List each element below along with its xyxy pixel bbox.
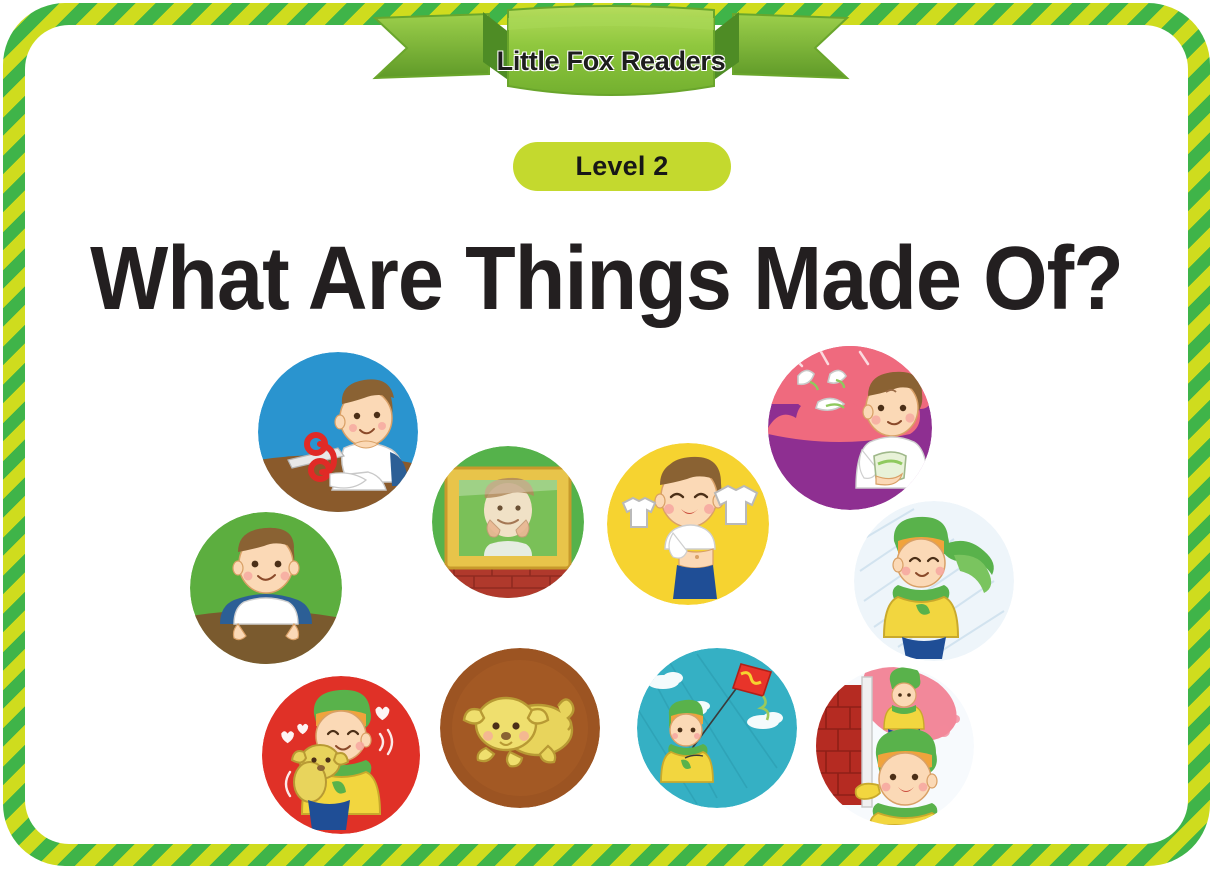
- book-cover-page: Little Fox Readers Level 2 What Are Thin…: [0, 0, 1213, 869]
- illustration-child-flying-kite: [637, 648, 797, 808]
- illustration-boy-at-table: [190, 512, 342, 664]
- illustration-boy-broken-cup: [768, 346, 932, 510]
- illustration-boy-with-tshirts: [607, 443, 769, 605]
- illustration-puppy-lying-down: [440, 648, 600, 808]
- illustration-cluster: [0, 0, 1213, 869]
- illustration-child-at-brick-wall: [816, 667, 974, 825]
- illustration-child-hugging-puppy: [262, 676, 420, 834]
- illustration-boy-cutting-paper: [258, 352, 418, 512]
- illustration-child-winter-clothes: [854, 501, 1014, 661]
- illustration-boy-face-at-window: [432, 446, 584, 598]
